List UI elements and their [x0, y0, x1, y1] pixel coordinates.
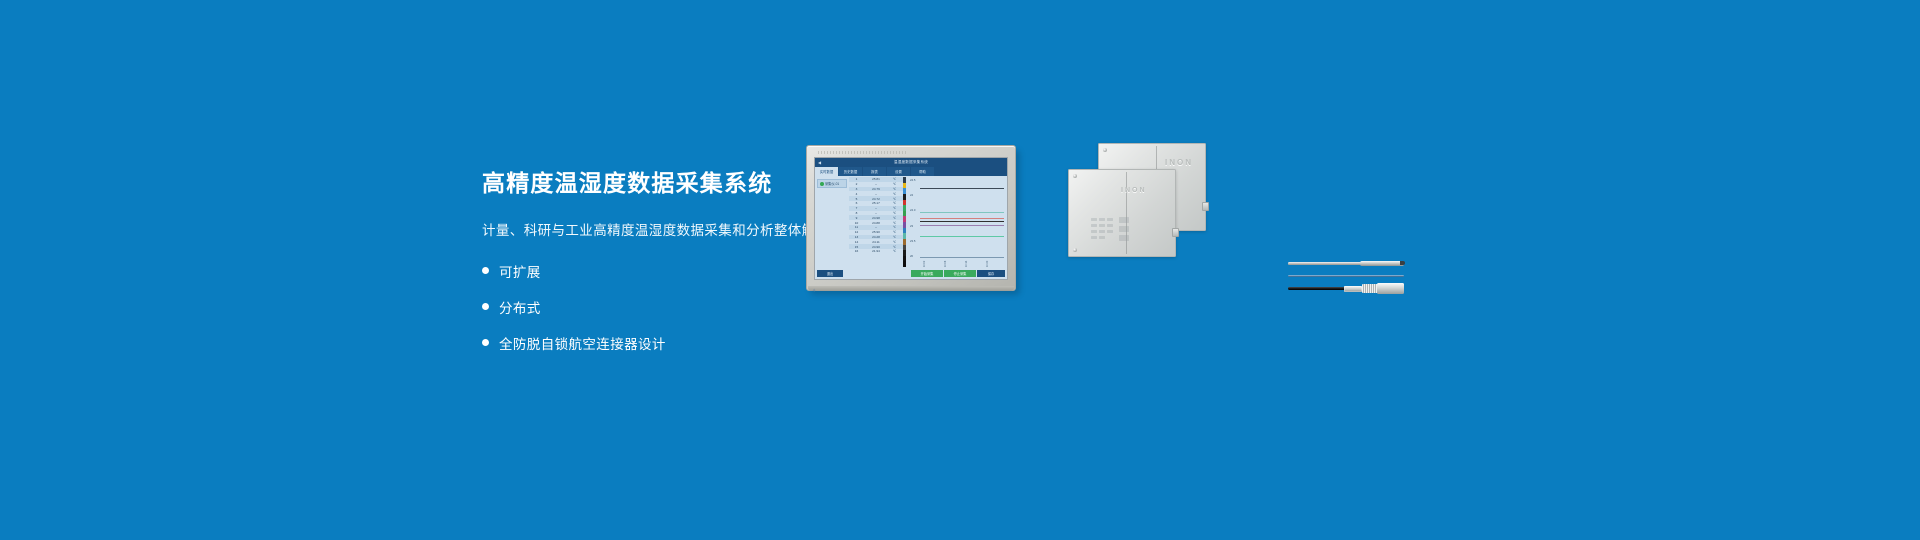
table-cell: ℃ [889, 225, 900, 229]
table-cell: -- [863, 225, 889, 229]
chart-y-tick: 23 [910, 224, 913, 228]
table-cell: -- [863, 192, 889, 196]
chart-x-tick: 10:02 [923, 258, 926, 267]
table-cell: 25.17 [863, 201, 889, 205]
table-cell: -- [863, 182, 889, 186]
brand-logo: INON [1165, 158, 1193, 167]
start-acquisition-button[interactable]: 开始采集 [911, 270, 943, 277]
chart-series-line [920, 236, 1004, 237]
table-cell: 11 [850, 225, 863, 229]
acquisition-module-front: INON [1068, 169, 1176, 257]
device-base [808, 286, 1014, 291]
chart-x-tick: 10:08 [944, 258, 947, 267]
bullet-dot-icon [482, 303, 489, 310]
chart-y-tick: 24 [910, 193, 913, 197]
probe-body [1360, 261, 1404, 266]
table-cell: 3 [850, 187, 863, 191]
brand-logo: INON [1121, 187, 1147, 194]
app-titlebar: ◀ 温湿度数据采集系统 [815, 158, 1007, 167]
table-cell: 25.81 [863, 177, 889, 181]
app-content: 采集仪-01 125.81℃2--℃324.79℃4--℃524.72℃625.… [815, 176, 1007, 268]
chart-series-line [920, 212, 1004, 213]
chart-x-tick: 10:20 [986, 258, 989, 267]
table-cell: 24.98 [863, 216, 889, 220]
sensor-probes [1288, 256, 1406, 302]
table-row[interactable]: 924.98℃ [849, 215, 903, 220]
acquisition-modules: INON INON [1062, 143, 1207, 303]
device-tree-label: 采集仪-01 [825, 181, 839, 186]
table-cell: 5 [850, 197, 863, 201]
table-cell: ℃ [889, 249, 900, 253]
table-row[interactable]: 524.72℃ [849, 196, 903, 201]
channel-table: 125.81℃2--℃324.79℃4--℃524.72℃625.17℃7--℃… [849, 176, 903, 268]
chart-plot-area [920, 178, 1004, 254]
panel-pc-device: ◀ 温湿度数据采集系统 实时数据 历史数据 报表 设置 帮助 采集仪-01 12… [806, 145, 1020, 295]
color-swatch [903, 261, 906, 267]
table-cell: 24.79 [863, 187, 889, 191]
product-banner: 高精度温湿度数据采集系统 计量、科研与工业高精度温湿度数据采集和分析整体解决方案… [0, 0, 1920, 540]
chart-series-line [920, 225, 1004, 226]
table-cell: 10 [850, 221, 863, 225]
table-cell: 4 [850, 192, 863, 196]
chart-series-line [920, 221, 1004, 222]
chart-y-axis: 24.52424.02323.520 [910, 178, 919, 254]
module-port [1172, 228, 1179, 237]
table-cell: 24.72 [863, 197, 889, 201]
chart-y-tick: 24.0 [910, 208, 915, 212]
table-cell: -- [863, 211, 889, 215]
tab-realtime[interactable]: 实时数据 [815, 167, 838, 176]
bullet-dot-icon [482, 267, 489, 274]
chart-y-tick: 20 [910, 254, 913, 258]
table-row[interactable]: 4--℃ [849, 191, 903, 196]
back-arrow-icon[interactable]: ◀ [818, 160, 821, 165]
table-cell: 24.90 [863, 245, 889, 249]
probe-tip [1400, 261, 1405, 265]
table-cell: 2 [850, 182, 863, 186]
table-row[interactable]: 2--℃ [849, 182, 903, 187]
table-cell: ℃ [889, 206, 900, 210]
screw-icon [1103, 148, 1107, 152]
table-cell: 9 [850, 216, 863, 220]
table-cell: 16 [850, 249, 863, 253]
cable-ferrule [1344, 286, 1362, 292]
feature-label: 分布式 [499, 297, 541, 317]
channel-color-legend [903, 177, 906, 267]
table-cell: 15 [850, 245, 863, 249]
table-row[interactable]: 7--℃ [849, 206, 903, 211]
table-cell: 24.28 [863, 235, 889, 239]
table-cell: 24.11 [863, 240, 889, 244]
table-row[interactable]: 1524.90℃ [849, 244, 903, 249]
connector-knurl [1362, 284, 1378, 293]
device-vent [818, 151, 906, 154]
table-cell: ℃ [889, 197, 900, 201]
table-row[interactable]: 1324.28℃ [849, 235, 903, 240]
feature-label: 全防脱自锁航空连接器设计 [499, 333, 666, 353]
table-row[interactable]: 324.79℃ [849, 187, 903, 192]
bullet-dot-icon [482, 339, 489, 346]
table-cell: ℃ [889, 235, 900, 239]
device-online-icon [820, 182, 824, 186]
aviation-connector-head [1377, 283, 1404, 294]
table-cell: 25.90 [863, 230, 889, 234]
probe-stem [1288, 262, 1362, 265]
app-title: 温湿度数据采集系统 [894, 160, 928, 165]
chart-y-tick: 23.5 [910, 239, 915, 243]
table-cell: 21.94 [863, 249, 889, 253]
table-row[interactable]: 1024.88℃ [849, 220, 903, 225]
table-cell: 1 [850, 177, 863, 181]
table-cell: 6 [850, 201, 863, 205]
feature-label: 可扩展 [499, 261, 541, 281]
table-cell: 7 [850, 206, 863, 210]
stop-acquisition-button[interactable]: 停止采集 [944, 270, 976, 277]
app-tabbar: 实时数据 历史数据 报表 设置 帮助 [815, 167, 1007, 176]
chart-series-line [920, 218, 1004, 219]
app-button-bar: 退出 开始采集 停止采集 保存 [815, 268, 1007, 279]
screw-icon [1073, 248, 1077, 252]
device-logo-icon: ✦ [812, 289, 818, 294]
tab-report[interactable]: 报表 [863, 167, 886, 176]
table-cell: ℃ [889, 230, 900, 234]
table-row[interactable]: 1225.90℃ [849, 230, 903, 235]
sensor-cable-blue [1288, 275, 1404, 277]
table-row[interactable]: 1621.94℃ [849, 249, 903, 254]
exit-button[interactable]: 退出 [817, 270, 843, 277]
device-tree-item[interactable]: 采集仪-01 [817, 179, 847, 188]
tab-history[interactable]: 历史数据 [839, 167, 862, 176]
table-cell: -- [863, 206, 889, 210]
cable-black [1288, 287, 1348, 290]
chart-x-tick: 10:14 [965, 258, 968, 267]
table-cell: ℃ [889, 177, 900, 181]
table-cell: 8 [850, 211, 863, 215]
module-port [1202, 202, 1209, 211]
tab-help[interactable]: 帮助 [911, 167, 934, 176]
chart-x-axis-line [920, 257, 1004, 258]
table-cell: ℃ [889, 221, 900, 225]
table-cell: 24.88 [863, 221, 889, 225]
table-cell: 12 [850, 230, 863, 234]
table-cell: ℃ [889, 211, 900, 215]
table-row[interactable]: 8--℃ [849, 211, 903, 216]
table-cell: ℃ [889, 192, 900, 196]
chart-series-line [920, 188, 1004, 189]
table-cell: ℃ [889, 187, 900, 191]
chart-y-tick: 24.5 [910, 178, 915, 182]
screw-icon [1073, 174, 1077, 178]
save-button[interactable]: 保存 [977, 270, 1005, 277]
list-item: 全防脱自锁航空连接器设计 [482, 333, 952, 353]
tab-settings[interactable]: 设置 [887, 167, 910, 176]
trend-chart: 24.52424.02323.520 10:0210:0810:1410:201… [907, 176, 1007, 268]
module-etching [1091, 218, 1131, 244]
table-cell: 13 [850, 235, 863, 239]
list-item: 分布式 [482, 297, 952, 317]
table-cell: ℃ [889, 216, 900, 220]
table-cell: ℃ [889, 201, 900, 205]
chart-x-tick: 10:26 [1007, 258, 1008, 267]
table-row[interactable]: 125.81℃ [849, 177, 903, 182]
table-row[interactable]: 1424.11℃ [849, 239, 903, 244]
table-cell: 14 [850, 240, 863, 244]
device-screen: ◀ 温湿度数据采集系统 实时数据 历史数据 报表 设置 帮助 采集仪-01 12… [814, 157, 1008, 280]
table-row[interactable]: 11--℃ [849, 225, 903, 230]
device-tree-panel: 采集仪-01 [815, 176, 849, 268]
table-row[interactable]: 625.17℃ [849, 201, 903, 206]
table-cell: ℃ [889, 240, 900, 244]
table-cell: ℃ [889, 182, 900, 186]
table-cell: ℃ [889, 245, 900, 249]
